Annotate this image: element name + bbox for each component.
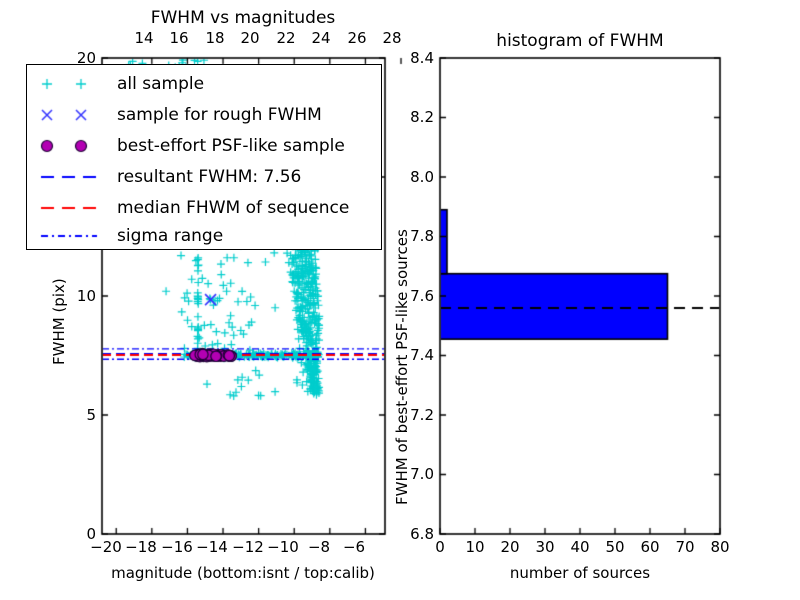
right-plot-ylabel: FWHM of best-effort PSF-like sources: [395, 229, 410, 505]
right-ytick-label: 7.4: [410, 348, 434, 363]
left-ytick-label: 0: [86, 527, 96, 542]
left-top-xtick-label: 20: [240, 31, 259, 46]
left-plot-ylabel: FWHM (pix): [52, 278, 67, 365]
legend-marker-plus-icon: [35, 68, 109, 99]
right-xtick-label: 30: [535, 540, 554, 555]
legend-item-median-fhwm: median FHWM of sequence: [27, 192, 381, 223]
legend-item-psf-like: best-effort PSF-like sample: [27, 130, 381, 161]
left-plot-xlabel: magnitude (bottom:isnt / top:calib): [111, 566, 375, 581]
left-top-xtick-label: 24: [311, 31, 330, 46]
legend-item-resultant-fwhm: resultant FWHM: 7.56: [27, 161, 381, 192]
left-plot-title: FWHM vs magnitudes: [151, 10, 336, 27]
left-ytick-label: 10: [77, 289, 96, 304]
right-plot-xlabel: number of sources: [510, 566, 650, 581]
legend-item-rough-fwhm: sample for rough FWHM: [27, 99, 381, 130]
right-xtick-label: 60: [640, 540, 659, 555]
legend-item-sigma-range: sigma range: [27, 220, 381, 251]
right-xtick-label: 20: [500, 540, 519, 555]
right-plot-title: histogram of FWHM: [496, 33, 663, 50]
left-xtick-label: −14: [196, 540, 228, 555]
legend: all sample sample for rough FWHM best-ef…: [26, 64, 382, 250]
legend-line-dashed-red-icon: [35, 192, 109, 223]
legend-line-dashed-blue-icon: [35, 161, 109, 192]
right-ytick-label: 8.4: [410, 51, 434, 66]
legend-marker-cross-icon: [35, 99, 109, 130]
right-xtick-label: 70: [675, 540, 694, 555]
left-top-xtick-label: 22: [276, 31, 295, 46]
right-xtick-label: 80: [710, 540, 729, 555]
left-xtick-label: −12: [232, 540, 264, 555]
figure-canvas-container: FWHM vs magnitudes magnitude (bottom:isn…: [0, 0, 800, 600]
right-ytick-label: 7.0: [410, 467, 434, 482]
right-ytick-label: 7.2: [410, 408, 434, 423]
right-ytick-label: 6.8: [410, 527, 434, 542]
legend-item-all-sample: all sample: [27, 68, 381, 99]
legend-label: median FHWM of sequence: [117, 198, 349, 218]
legend-label: best-effort PSF-like sample: [117, 136, 345, 156]
left-xtick-label: −10: [267, 540, 299, 555]
legend-label: sigma range: [117, 226, 223, 246]
left-top-xtick-label: 26: [347, 31, 366, 46]
left-top-xtick-label: 28: [382, 31, 401, 46]
left-top-xtick-label: 18: [205, 31, 224, 46]
legend-line-dashdot-icon: [35, 220, 109, 251]
right-xtick-label: 10: [465, 540, 484, 555]
legend-label: sample for rough FWHM: [117, 105, 322, 125]
legend-label: all sample: [117, 74, 204, 94]
left-ytick-label: 5: [86, 408, 96, 423]
left-xtick-label: −8: [308, 540, 330, 555]
right-xtick-label: 40: [570, 540, 589, 555]
legend-marker-circle-icon: [35, 130, 109, 161]
left-xtick-label: −18: [125, 540, 157, 555]
left-top-xtick-label: 14: [134, 31, 153, 46]
right-ytick-label: 8.2: [410, 110, 434, 125]
right-xtick-label: 50: [605, 540, 624, 555]
left-top-xtick-label: 16: [169, 31, 188, 46]
left-xtick-label: −6: [343, 540, 365, 555]
legend-label: resultant FWHM: 7.56: [117, 167, 301, 187]
right-ytick-label: 8.0: [410, 170, 434, 185]
right-ytick-label: 7.8: [410, 229, 434, 244]
right-xtick-label: 0: [435, 540, 445, 555]
left-xtick-label: −16: [161, 540, 193, 555]
right-ytick-label: 7.6: [410, 289, 434, 304]
